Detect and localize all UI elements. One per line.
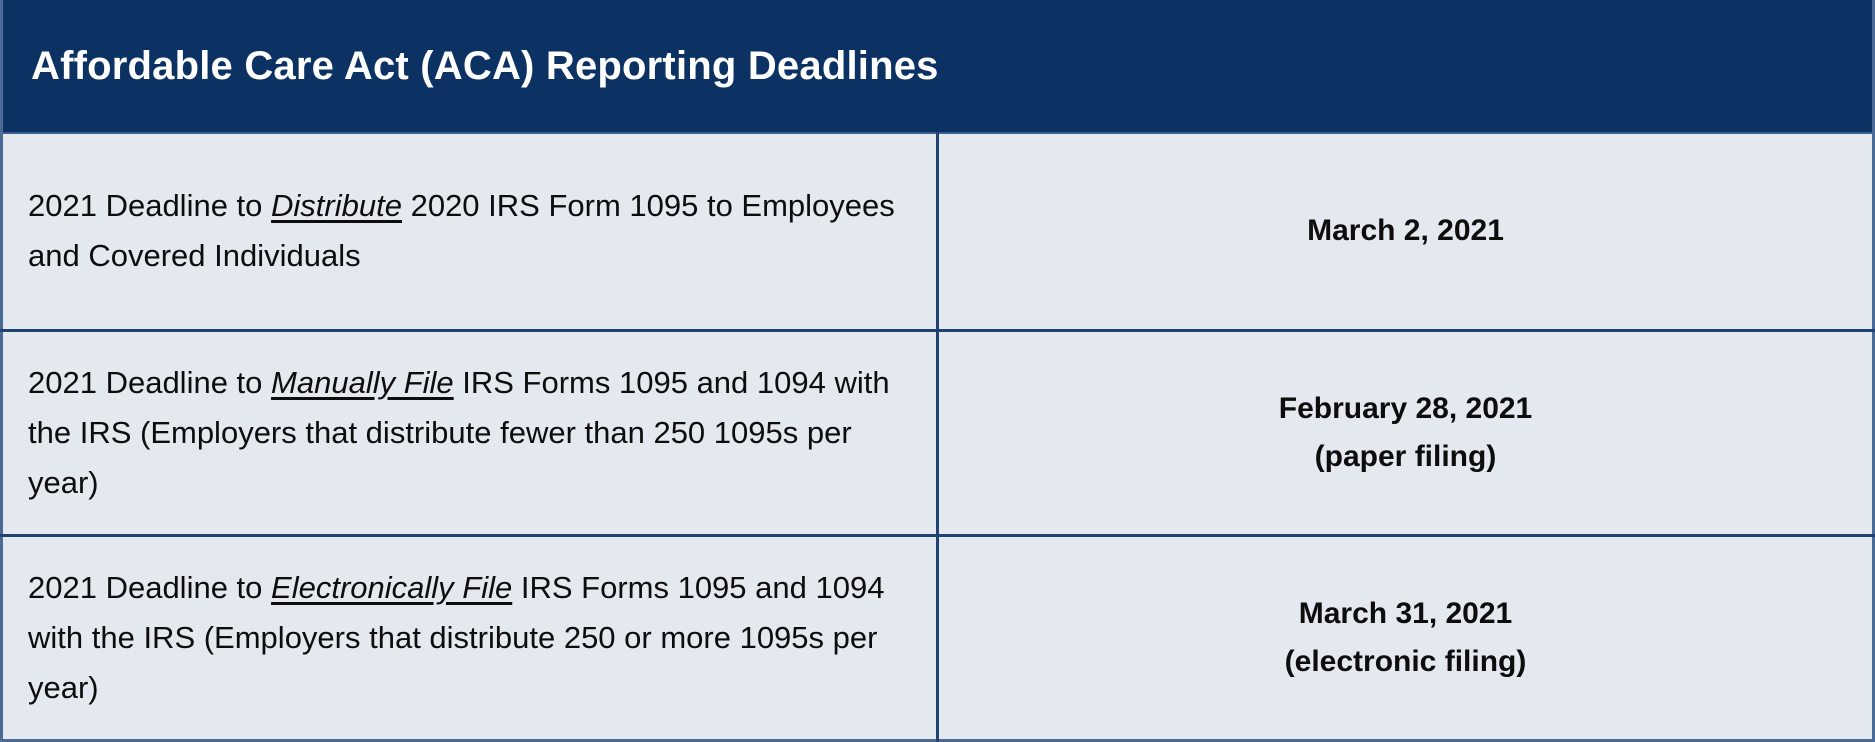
- description-emphasis: Distribute: [271, 188, 402, 223]
- deadline-date-cell: March 2, 2021: [938, 133, 1874, 330]
- table-row: 2021 Deadline to Distribute 2020 IRS For…: [2, 133, 1874, 330]
- page-title: Affordable Care Act (ACA) Reporting Dead…: [31, 44, 1872, 88]
- table-title-cell: Affordable Care Act (ACA) Reporting Dead…: [2, 0, 1874, 133]
- deadline-description-cell: 2021 Deadline to Manually File IRS Forms…: [2, 330, 938, 536]
- description-prefix: 2021 Deadline to: [28, 365, 271, 400]
- deadline-description-cell: 2021 Deadline to Distribute 2020 IRS For…: [2, 133, 938, 330]
- deadline-date-note: (paper filing): [953, 433, 1858, 482]
- table-header: Affordable Care Act (ACA) Reporting Dead…: [2, 0, 1874, 133]
- deadline-description-cell: 2021 Deadline to Electronically File IRS…: [2, 536, 938, 741]
- table-row: 2021 Deadline to Manually File IRS Forms…: [2, 330, 1874, 536]
- description-emphasis: Electronically File: [271, 570, 512, 605]
- description-emphasis: Manually File: [271, 365, 454, 400]
- deadline-date-cell: March 31, 2021 (electronic filing): [938, 536, 1874, 741]
- deadline-date-primary: February 28, 2021: [953, 385, 1858, 434]
- table-header-row: Affordable Care Act (ACA) Reporting Dead…: [2, 0, 1874, 133]
- deadline-date-primary: March 2, 2021: [953, 207, 1858, 256]
- table-body: 2021 Deadline to Distribute 2020 IRS For…: [2, 133, 1874, 741]
- aca-deadlines-graphic: Affordable Care Act (ACA) Reporting Dead…: [0, 0, 1875, 742]
- aca-deadlines-table: Affordable Care Act (ACA) Reporting Dead…: [0, 0, 1875, 742]
- table-row: 2021 Deadline to Electronically File IRS…: [2, 536, 1874, 741]
- description-prefix: 2021 Deadline to: [28, 570, 271, 605]
- deadline-date-note: (electronic filing): [953, 638, 1858, 687]
- deadline-date-primary: March 31, 2021: [953, 590, 1858, 639]
- description-prefix: 2021 Deadline to: [28, 188, 271, 223]
- deadline-date-cell: February 28, 2021 (paper filing): [938, 330, 1874, 536]
